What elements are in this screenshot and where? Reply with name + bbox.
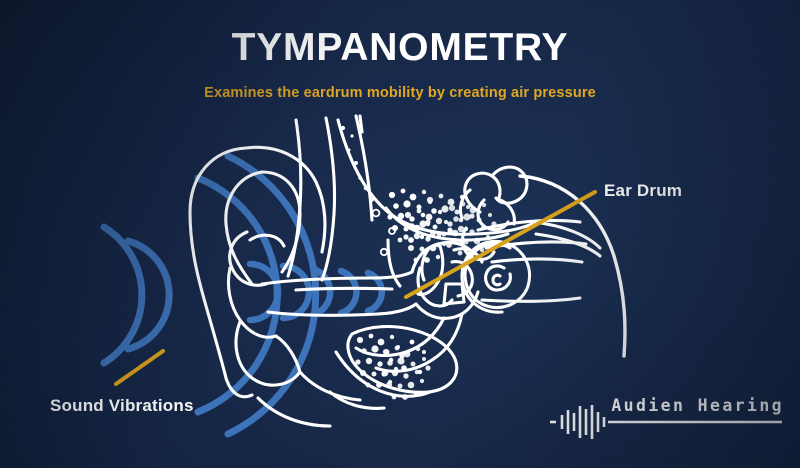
sound-wave-arcs [104,156,316,434]
sound-vibrations-leader-line [116,351,163,384]
infographic-canvas: TYMPANOMETRY Examines the eardrum mobili… [0,0,800,468]
anatomy-lines [190,116,625,426]
page-subtitle: Examines the eardrum mobility by creatin… [0,85,800,101]
page-title: TYMPANOMETRY [0,26,800,70]
annotation-label-ear-drum: Ear Drum [604,181,682,201]
brand-logo: Audien Hearing [548,396,784,442]
brand-name: Audien Hearing [611,396,784,415]
annotation-label-sound-vibrations: Sound Vibrations [50,396,194,416]
bone-stipple-dots [341,126,497,400]
